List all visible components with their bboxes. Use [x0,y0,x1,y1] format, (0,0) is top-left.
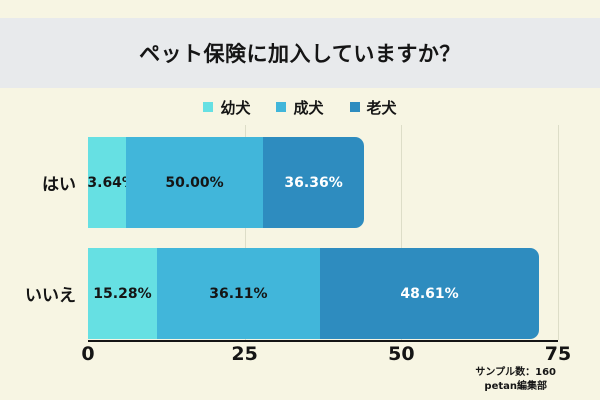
bar-segment-0-0[interactable]: 13.64% [88,137,126,228]
legend-swatch-puppy-icon [203,102,213,112]
credit-note: petan編集部 [475,380,556,394]
x-tick-50: 50 [388,343,414,365]
bar-segment-1-1[interactable]: 36.11% [157,248,320,339]
category-label-0: はい [0,137,76,228]
legend-swatch-senior-icon [350,102,360,112]
bar-segment-0-2[interactable]: 36.36% [263,137,363,228]
legend-item-1[interactable]: 成犬 [276,97,323,118]
x-tick-25: 25 [231,343,257,365]
legend-item-2[interactable]: 老犬 [350,97,397,118]
x-tick-75: 75 [545,343,571,365]
legend-item-0[interactable]: 幼犬 [203,97,250,118]
category-label-1: いいえ [0,248,76,339]
stacked-bar-1[interactable]: 15.28%36.11%48.61% [88,248,539,339]
x-axis-line [88,340,558,342]
page-title: ペット保険に加入していますか？ [139,38,461,68]
plot-area: はい13.64%50.00%36.36%いいえ15.28%36.11%48.61… [0,125,600,345]
bar-segment-1-0[interactable]: 15.28% [88,248,157,339]
stacked-bar-0[interactable]: 13.64%50.00%36.36% [88,137,364,228]
bar-segment-0-1[interactable]: 50.00% [126,137,264,228]
legend-label-2: 老犬 [367,97,397,118]
bar-segment-1-2[interactable]: 48.61% [320,248,539,339]
legend-label-1: 成犬 [293,97,323,118]
title-band: ペット保険に加入していますか？ [0,18,600,88]
legend-swatch-adult-icon [276,102,286,112]
x-tick-0: 0 [81,343,94,365]
bar-row: はい13.64%50.00%36.36% [0,137,600,228]
bar-row: いいえ15.28%36.11%48.61% [0,248,600,339]
chart-footer: サンプル数：160 petan編集部 [475,366,556,393]
sample-size-note: サンプル数：160 [475,366,556,380]
chart-legend: 幼犬 成犬 老犬 [0,96,600,118]
legend-label-0: 幼犬 [220,97,250,118]
